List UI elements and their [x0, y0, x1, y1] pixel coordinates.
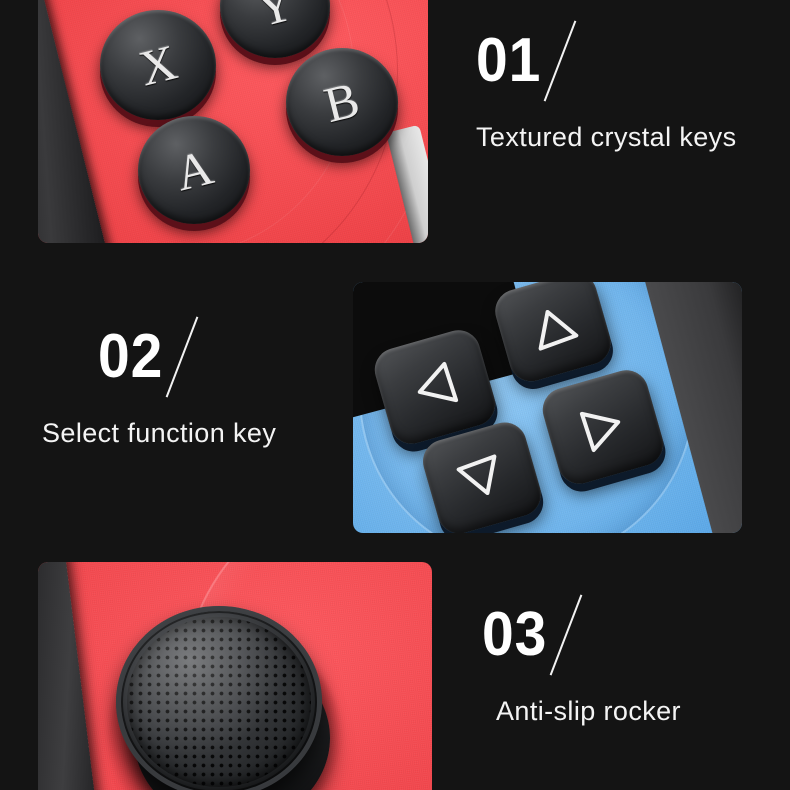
feature-caption-03: 03 Anti-slip rocker: [482, 596, 681, 727]
feature-text-02: Select function key: [42, 418, 276, 449]
triangle-down-icon: [453, 450, 511, 505]
feature-number-wrap-02: 02: [98, 318, 169, 396]
slash-accent-icon: [544, 20, 577, 101]
feature-text-01: Textured crystal keys: [476, 122, 736, 153]
feature-number-01: 01: [476, 22, 541, 100]
button-label-b: B: [319, 70, 365, 134]
gamepad-button-b[interactable]: B: [286, 48, 398, 156]
button-label-y: Y: [250, 0, 299, 39]
gamepad-button-a[interactable]: A: [138, 116, 250, 224]
product-photo-dpad-buttons: [353, 282, 742, 533]
feature-number-03: 03: [482, 596, 547, 674]
feature-number-wrap-03: 03: [482, 596, 553, 674]
button-label-x: X: [133, 32, 182, 97]
product-photo-abxy-buttons: Y X B A: [38, 0, 428, 243]
infographic-stage: Y X B A 01 Textured crystal keys 02 Sele…: [0, 0, 790, 790]
feature-text-03: Anti-slip rocker: [496, 696, 681, 727]
slash-accent-icon: [550, 594, 583, 675]
feature-number-02: 02: [98, 318, 163, 396]
triangle-up-icon: [524, 299, 582, 354]
triangle-right-icon: [576, 399, 630, 456]
feature-number-wrap-01: 01: [476, 22, 547, 100]
slash-accent-icon: [166, 316, 199, 397]
product-photo-analog-rocker: [38, 562, 432, 790]
feature-caption-02: 02 Select function key: [98, 318, 276, 449]
feature-caption-01: 01 Textured crystal keys: [476, 22, 736, 153]
button-label-a: A: [169, 137, 218, 202]
analog-stick-rim: [116, 606, 322, 790]
gamepad-button-x[interactable]: X: [100, 10, 216, 120]
triangle-left-icon: [408, 359, 462, 416]
